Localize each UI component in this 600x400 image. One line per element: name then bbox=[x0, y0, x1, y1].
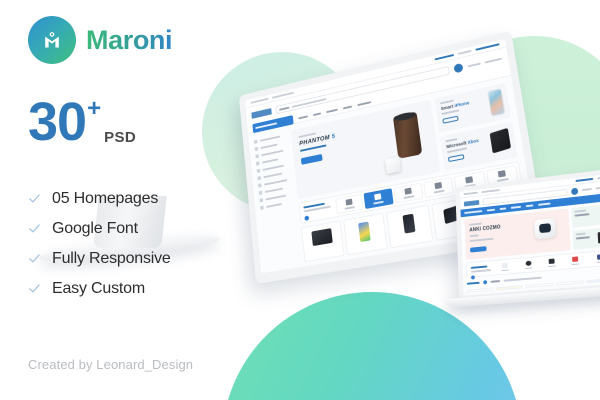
shop-logo[interactable] bbox=[251, 108, 272, 119]
category-tile-laptop[interactable] bbox=[364, 188, 393, 209]
laptop-category-tile-appliance[interactable] bbox=[495, 261, 516, 273]
check-icon bbox=[28, 252, 41, 265]
bag-icon bbox=[572, 256, 578, 262]
feature-item-homepages: 05 Homepages bbox=[28, 190, 243, 208]
category-icon bbox=[259, 191, 263, 195]
nav-item[interactable] bbox=[511, 206, 521, 209]
brand-name: Maroni bbox=[86, 25, 172, 56]
category-icon bbox=[257, 169, 261, 173]
check-icon bbox=[28, 222, 41, 235]
maroni-m-monogram-icon bbox=[28, 16, 76, 64]
camera-icon bbox=[498, 170, 506, 177]
psd-count-plus: + bbox=[87, 95, 101, 123]
check-icon bbox=[28, 282, 41, 295]
tablet-icon bbox=[402, 214, 415, 234]
laptop-promo-column bbox=[571, 204, 600, 250]
psd-count-block: 30 + PSD bbox=[28, 98, 243, 148]
laptop-product-card[interactable] bbox=[555, 280, 584, 285]
vacuum-icon bbox=[525, 260, 531, 265]
category-icon bbox=[255, 147, 259, 151]
category-icon bbox=[256, 161, 260, 165]
laptop-product-card[interactable] bbox=[586, 278, 600, 283]
laptop-category-tile-vacuum[interactable] bbox=[517, 259, 539, 271]
feature-item-responsive: Fully Responsive bbox=[28, 250, 243, 268]
feature-label: Easy Custom bbox=[52, 280, 145, 298]
category-icon bbox=[255, 154, 259, 158]
product-card[interactable] bbox=[343, 213, 388, 256]
gamepad-icon bbox=[549, 258, 555, 263]
laptop-icon bbox=[375, 193, 382, 200]
product-card[interactable] bbox=[386, 205, 433, 248]
promo-title-accent: Xbox bbox=[467, 138, 479, 145]
psd-count-suffix: PSD bbox=[104, 129, 136, 146]
psd-count-number: 30 bbox=[28, 98, 86, 148]
laptop-shop-body: ANKI COZMO bbox=[461, 200, 600, 295]
feature-label: Google Font bbox=[52, 220, 138, 238]
category-tile-tv[interactable] bbox=[335, 194, 364, 214]
feature-list: 05 Homepages Google Font Fully Responsiv… bbox=[28, 190, 243, 298]
promo-title-accent: iPhone bbox=[454, 100, 470, 108]
nav-item[interactable] bbox=[526, 205, 534, 207]
hero-title-accent: 5 bbox=[331, 133, 335, 140]
feature-item-google-font: Google Font bbox=[28, 220, 243, 238]
hero-cta-button[interactable] bbox=[301, 154, 323, 165]
promo-cta-button[interactable] bbox=[442, 116, 458, 124]
category-tile-console[interactable] bbox=[393, 183, 423, 204]
category-icon bbox=[260, 206, 264, 210]
shop-logo[interactable] bbox=[464, 200, 479, 206]
laptop-product-card[interactable] bbox=[467, 287, 494, 292]
laptop-hero-cta-button[interactable] bbox=[470, 246, 487, 252]
top-categories-label bbox=[301, 199, 335, 220]
category-icon bbox=[258, 183, 262, 187]
feature-label: Fully Responsive bbox=[52, 250, 171, 268]
laptop-category-tile-bag[interactable] bbox=[564, 255, 587, 267]
cart-icon[interactable] bbox=[453, 63, 463, 74]
nav-item[interactable] bbox=[500, 208, 507, 210]
laptop-product-card[interactable] bbox=[525, 283, 553, 288]
nav-item[interactable] bbox=[487, 209, 495, 211]
printer-icon bbox=[466, 176, 474, 183]
credit-line: Created by Leonard_Design bbox=[28, 357, 193, 372]
left-content-column: Maroni 30 + PSD 05 Homepages Google Font… bbox=[28, 16, 243, 310]
category-icon bbox=[259, 198, 263, 202]
printer-icon bbox=[311, 228, 332, 246]
brand-lockup: Maroni bbox=[28, 16, 243, 64]
category-icon bbox=[257, 176, 261, 180]
laptop-product-card[interactable] bbox=[496, 285, 524, 290]
promo-cta-button[interactable] bbox=[448, 154, 465, 162]
check-icon bbox=[28, 192, 41, 205]
laptop-bezel: ANKI COZMO bbox=[455, 168, 600, 302]
tv-icon bbox=[346, 199, 353, 206]
watch-icon bbox=[435, 182, 443, 189]
robot-toy-icon bbox=[534, 218, 556, 240]
nav-item[interactable] bbox=[538, 203, 550, 206]
smart-plug-icon bbox=[385, 157, 401, 174]
feature-item-easy-custom: Easy Custom bbox=[28, 280, 243, 298]
laptop-category-tile-book[interactable] bbox=[588, 252, 600, 264]
nav-item[interactable] bbox=[464, 210, 482, 213]
laptop-hero-banner[interactable]: ANKI COZMO bbox=[464, 208, 570, 259]
laptop-category-tile-gamepad[interactable] bbox=[541, 257, 563, 269]
feature-label: 05 Homepages bbox=[52, 190, 158, 208]
laptop-promo-card-phone[interactable] bbox=[571, 204, 600, 228]
laptop-screen: ANKI COZMO bbox=[460, 174, 600, 296]
category-tile-watch[interactable] bbox=[423, 177, 454, 198]
product-card[interactable] bbox=[301, 221, 344, 263]
laptop-top-categories-label bbox=[469, 263, 493, 275]
category-icon bbox=[254, 140, 258, 144]
laptop-promo-card-tv[interactable] bbox=[572, 226, 600, 249]
appliance-icon bbox=[502, 262, 508, 267]
console-icon bbox=[404, 188, 412, 195]
cart-icon[interactable] bbox=[571, 187, 578, 195]
xbox-console-icon bbox=[490, 128, 511, 154]
laptop-mockup: ANKI COZMO bbox=[455, 168, 600, 302]
smartphone-icon bbox=[359, 221, 372, 242]
promo-column: Smart iPhone bbox=[434, 83, 517, 171]
